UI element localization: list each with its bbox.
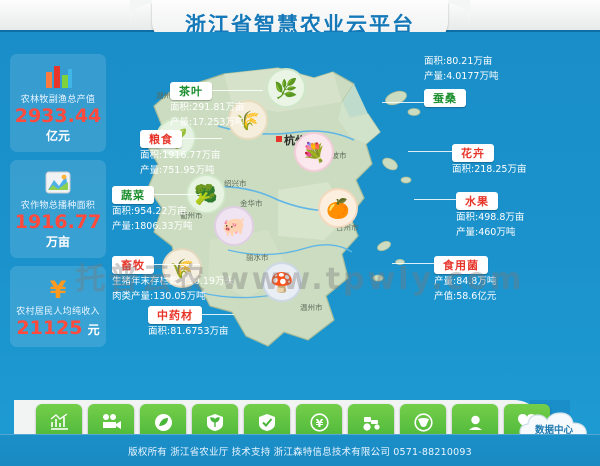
sprout-icon xyxy=(206,412,224,433)
stat-label: 农村居民人均纯收入 xyxy=(13,304,103,317)
leader-line-mushroom xyxy=(392,263,434,264)
medallion-livestock[interactable]: 🐖 xyxy=(214,206,254,246)
stat-value: 1916.77 xyxy=(13,213,103,233)
footer-text: 版权所有 浙江省农业厅 技术支持 浙江森特信息技术有限公司 0571-88210… xyxy=(128,444,472,458)
svg-text:¥: ¥ xyxy=(50,276,67,301)
capital-marker xyxy=(276,136,282,142)
bottom-nav: 农业物联网 生态循环 xyxy=(0,400,600,434)
callout-tea[interactable]: 茶叶 面积:291.81万亩 产量:17.253万吨 xyxy=(170,80,244,130)
stat-card-sown-area[interactable]: 农作物总播种面积 1916.77 万亩 xyxy=(10,160,106,258)
leader-line-herb xyxy=(194,314,234,315)
medallion-fruit[interactable]: 🍊 xyxy=(318,188,358,228)
callout-line-1: 面积:1916.77万亩 xyxy=(140,150,221,163)
dashboard-stage: 农林牧副渔总产值 2933.44 亿元 农作物总播种面积 1916.77 万亩 … xyxy=(0,32,600,434)
callout-silkworm[interactable]: 面积:80.21万亩 产量:4.0177万吨 蚕桑 xyxy=(424,54,498,107)
camera-icon xyxy=(101,412,122,433)
medallion-mushroom[interactable]: 🍄 xyxy=(262,262,302,302)
nav-button-iot[interactable]: 农业物联网 xyxy=(36,404,82,434)
bar-chart-icon xyxy=(13,61,103,89)
area-chart-icon xyxy=(13,167,103,195)
callout-line-1: 面积:291.81万亩 xyxy=(170,102,244,115)
svg-text:¥: ¥ xyxy=(315,417,323,430)
leader-line-flower xyxy=(408,151,452,152)
footer: 版权所有 浙江省农业厅 技术支持 浙江森特信息技术有限公司 0571-88210… xyxy=(0,434,600,466)
callout-line-1: 面积:498.8万亩 xyxy=(456,212,524,225)
tractor-icon xyxy=(361,412,382,433)
callout-line-1: 面积:81.6753万亩 xyxy=(148,326,229,339)
leader-line-vegetable xyxy=(150,194,200,195)
stat-unit: 万亩 xyxy=(13,233,103,250)
callout-line-2: 产量:751.95万吨 xyxy=(140,165,221,178)
nav-button-industrialization[interactable]: 农业产业化 xyxy=(140,404,186,434)
callout-line-1: 面积:80.21万亩 xyxy=(424,56,498,69)
stat-card-rural-income[interactable]: ¥ 农村居民人均纯收入 21125 元 xyxy=(10,266,106,347)
callout-grain[interactable]: 粮食 面积:1916.77万亩 产量:751.95万吨 xyxy=(140,128,221,178)
callout-line-1: 面积:218.25万亩 xyxy=(452,164,526,177)
leader-line-grain xyxy=(178,138,222,139)
stat-card-total-output[interactable]: 农林牧副渔总产值 2933.44 亿元 xyxy=(10,54,106,152)
nav-button-row: 农业物联网 生态循环 xyxy=(36,404,550,434)
stat-value: 2933.44 xyxy=(13,107,103,127)
stat-value: 21125 xyxy=(16,317,82,339)
callout-line-2: 肉类产量:130.05万吨 xyxy=(112,291,234,304)
nav-button-quality-safety[interactable]: 质量安全 xyxy=(244,404,290,434)
callout-mushroom[interactable]: 食用菌 产量:84.8万吨 产值:58.6亿元 xyxy=(434,254,496,304)
yuan-icon: ¥ xyxy=(310,412,329,433)
callout-tag: 蚕桑 xyxy=(424,89,466,107)
callout-line-2: 产量:460万吨 xyxy=(456,227,524,240)
city-label-lishui: 丽水市 xyxy=(246,252,269,263)
callout-tag: 蔬菜 xyxy=(112,186,154,204)
shield-icon xyxy=(258,412,276,433)
city-label-shaoxing: 绍兴市 xyxy=(224,178,247,189)
callout-tag: 中药材 xyxy=(148,306,202,324)
nav-button-rural-operation[interactable]: ¥ 农村经营 xyxy=(296,404,342,434)
yuan-icon: ¥ xyxy=(13,273,103,301)
callout-herb[interactable]: 中药材 面积:81.6753万亩 xyxy=(148,304,229,339)
leader-line-tea xyxy=(207,90,263,91)
callout-livestock[interactable]: 畜牧 生猪年末存栏数:730.19万头 肉类产量:130.05万吨 xyxy=(112,254,234,304)
callout-flower[interactable]: 花卉 面积:218.25万亩 xyxy=(452,142,526,177)
leader-line-silkworm xyxy=(382,102,424,103)
callout-tag: 粮食 xyxy=(140,130,182,148)
callout-line-1: 生猪年末存栏数:730.19万头 xyxy=(112,276,234,289)
callout-line-1: 面积:954.22万亩 xyxy=(112,206,193,219)
stat-unit: 元 xyxy=(88,323,100,337)
callout-line-2: 产值:58.6亿元 xyxy=(434,291,496,304)
nav-button-machinery[interactable]: 农业机械 xyxy=(348,404,394,434)
medallion-flower[interactable]: 💐 xyxy=(294,132,334,172)
city-label-wenzhou: 温州市 xyxy=(300,302,323,313)
callout-tag: 食用菌 xyxy=(434,256,488,274)
nav-button-planting[interactable]: 种植业 xyxy=(192,404,238,434)
callout-line-2: 产量:4.0177万吨 xyxy=(424,71,498,84)
alert-icon xyxy=(466,412,485,433)
stat-label: 农作物总播种面积 xyxy=(13,198,103,211)
medallion-silkworm[interactable]: 🌿 xyxy=(266,68,306,108)
nav-button-emergency-alert[interactable]: 应急预警 xyxy=(452,404,498,434)
leader-line-fruit xyxy=(414,199,456,200)
callout-line-1: 产量:84.8万吨 xyxy=(434,276,496,289)
nav-button-eco-cycle[interactable]: 生态循环 xyxy=(88,404,134,434)
data-center-button[interactable]: 数据中心 xyxy=(518,410,590,434)
chart-icon xyxy=(50,412,69,433)
stat-unit: 亿元 xyxy=(13,127,103,144)
data-center-label: 数据中心 xyxy=(518,410,590,434)
callout-tag: 花卉 xyxy=(452,144,494,162)
callout-line-2: 产量:1806.33万吨 xyxy=(112,221,193,234)
callout-tag: 水果 xyxy=(456,192,498,210)
leaf-icon xyxy=(154,412,173,433)
cow-icon xyxy=(414,412,433,433)
stat-label: 农林牧副渔总产值 xyxy=(13,92,103,105)
callout-fruit[interactable]: 水果 面积:498.8万亩 产量:460万吨 xyxy=(456,190,524,240)
callout-tag: 茶叶 xyxy=(170,82,212,100)
callout-tag: 畜牧 xyxy=(112,256,154,274)
leader-line-livestock xyxy=(152,264,200,265)
nav-button-livestock[interactable]: 畜牧业 xyxy=(400,404,446,434)
callout-vegetable[interactable]: 蔬菜 面积:954.22万亩 产量:1806.33万吨 xyxy=(112,184,193,234)
